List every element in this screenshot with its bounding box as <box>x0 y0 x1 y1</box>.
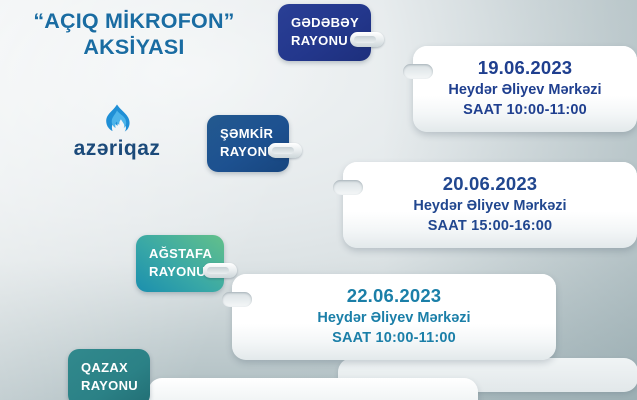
district-tab-semkir[interactable]: ŞƏMKİR RAYONU <box>207 115 289 172</box>
event-venue: Heydər Əliyev Mərkəzi <box>357 196 623 217</box>
district-tab-agstafa-line-1: AĞSTAFA <box>149 245 212 263</box>
district-tab-qazax[interactable]: QAZAX RAYONU <box>68 349 150 400</box>
connector-socket-icon <box>403 64 433 79</box>
azeriqaz-logo: azəriqaz <box>52 104 182 159</box>
event-card-agstafa: 22.06.2023 Heydər Əliyev Mərkəzi SAAT 10… <box>232 274 556 360</box>
district-tab-qazax-line-2: RAYONU <box>81 377 138 395</box>
event-time: SAAT 15:00-16:00 <box>357 216 623 237</box>
event-venue: Heydər Əliyev Mərkəzi <box>246 308 542 329</box>
district-tab-gedebey-line-1: GƏDƏBƏY <box>291 14 359 32</box>
connector-nub-icon <box>350 32 384 47</box>
event-time: SAAT 10:00-11:00 <box>427 100 623 121</box>
event-card-semkir: 20.06.2023 Heydər Əliyev Mərkəzi SAAT 15… <box>343 162 637 248</box>
event-time: SAAT 10:00-11:00 <box>246 328 542 349</box>
district-tab-gedebey[interactable]: GƏDƏBƏY RAYONU <box>278 4 371 61</box>
connector-nub-icon <box>203 263 237 278</box>
district-tab-agstafa[interactable]: AĞSTAFA RAYONU <box>136 235 224 292</box>
page-title: “AÇIQ MİKROFON” AKSİYASI <box>0 8 268 60</box>
event-date: 22.06.2023 <box>246 284 542 308</box>
connector-socket-icon <box>222 292 252 307</box>
page-title-line-1: “AÇIQ MİKROFON” <box>0 8 268 34</box>
connector-nub-icon <box>268 143 302 158</box>
district-tab-qazax-line-1: QAZAX <box>81 359 138 377</box>
district-tab-gedebey-line-2: RAYONU <box>291 32 359 50</box>
event-venue: Heydər Əliyev Mərkəzi <box>427 80 623 101</box>
page-title-line-2: AKSİYASI <box>0 34 268 60</box>
event-date: 19.06.2023 <box>427 56 623 80</box>
connector-socket-icon <box>333 180 363 195</box>
event-date: 20.06.2023 <box>357 172 623 196</box>
event-card-partial-bottom <box>148 378 478 400</box>
azeriqaz-wordmark: azəriqaz <box>52 138 182 159</box>
event-card-gedebey: 19.06.2023 Heydər Əliyev Mərkəzi SAAT 10… <box>413 46 637 132</box>
gas-flame-icon <box>104 104 130 134</box>
district-tab-semkir-line-1: ŞƏMKİR <box>220 125 277 143</box>
